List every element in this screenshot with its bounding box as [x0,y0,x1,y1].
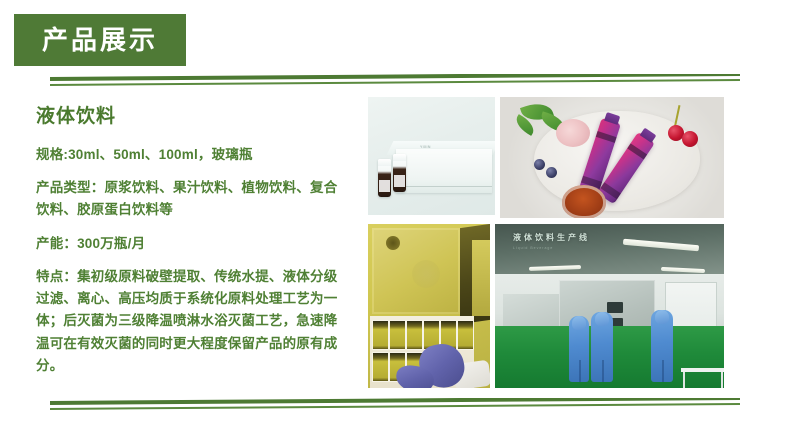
tray-bottle-shape [372,320,389,350]
gallery-image-product-box[interactable]: YIXIN [368,97,495,215]
bottle-shape [378,159,391,197]
decorative-rule-bottom [50,398,740,414]
gift-box-lid-shape [372,228,460,314]
worker-leg-split [662,360,664,382]
work-table-shape [681,368,724,372]
worker-figure-shape [591,312,613,382]
production-line-caption: 液体饮料生产线 [513,232,590,243]
product-image-gallery: YIXIN [368,97,724,388]
tray-bottle-shape [406,320,423,350]
blueberry-shape [546,167,557,178]
spec-line-features: 特点：集初级原料破壁提取、传统水提、液体分级过滤、离心、高压均质于系统化原料处理… [36,266,346,377]
worker-figure-shape [569,316,589,382]
box-right-panel-shape [472,240,490,316]
blueberry-shape [534,159,545,170]
gallery-image-bottles-flatlay[interactable] [500,97,724,218]
spec-line-product-types: 产品类型：原浆饮料、果汁饮料、植物饮料、复合饮料、胶原蛋白饮料等 [36,177,346,222]
bottle-label-shape [379,180,390,192]
production-line-caption-sub: Liquid Beverage [513,246,553,250]
product-info-column: 液体饮料 规格:30ml、50ml、100ml，玻璃瓶 产品类型：原浆饮料、果汁… [36,106,346,377]
tray-bottle-shape [457,320,474,350]
brand-emblem-icon [386,236,400,250]
box-brand-text: YIXIN [420,145,431,149]
page-header-badge: 产品展示 [14,14,186,66]
bottle-cap-shape [378,159,391,166]
gallery-image-production-line[interactable]: 液体饮料生产线 Liquid Beverage [495,224,724,388]
gallery-image-gift-box-packing[interactable] [368,224,490,388]
worker-leg-split [602,360,604,382]
spec-line-capacity: 产能：300万瓶/月 [36,233,346,255]
decorative-rule-top [50,74,740,90]
bottle-cap-shape [393,154,406,161]
bottle-label-shape [394,175,405,187]
product-box-shape [396,149,492,193]
tray-bottle-shape [389,320,406,350]
control-panel-shape [607,302,623,313]
worker-leg-split [579,360,581,382]
embossed-seal-shape [412,260,440,288]
product-name-heading: 液体饮料 [36,106,346,129]
worker-figure-shape [651,310,673,382]
worker-hood-shape [655,310,669,324]
worker-hood-shape [595,312,609,326]
bottle-band-shape [596,131,617,143]
worker-hood-shape [572,316,586,330]
spec-line-specification: 规格:30ml、50ml、100ml，玻璃瓶 [36,144,346,166]
juice-glass-shape [562,185,606,218]
bottle-shape [393,154,406,192]
rose-flower-shape [556,119,590,147]
page-title: 产品展示 [42,27,158,53]
cherry-shape [682,131,698,147]
tray-bottle-shape [372,352,389,382]
bottle-band-shape [627,143,647,159]
